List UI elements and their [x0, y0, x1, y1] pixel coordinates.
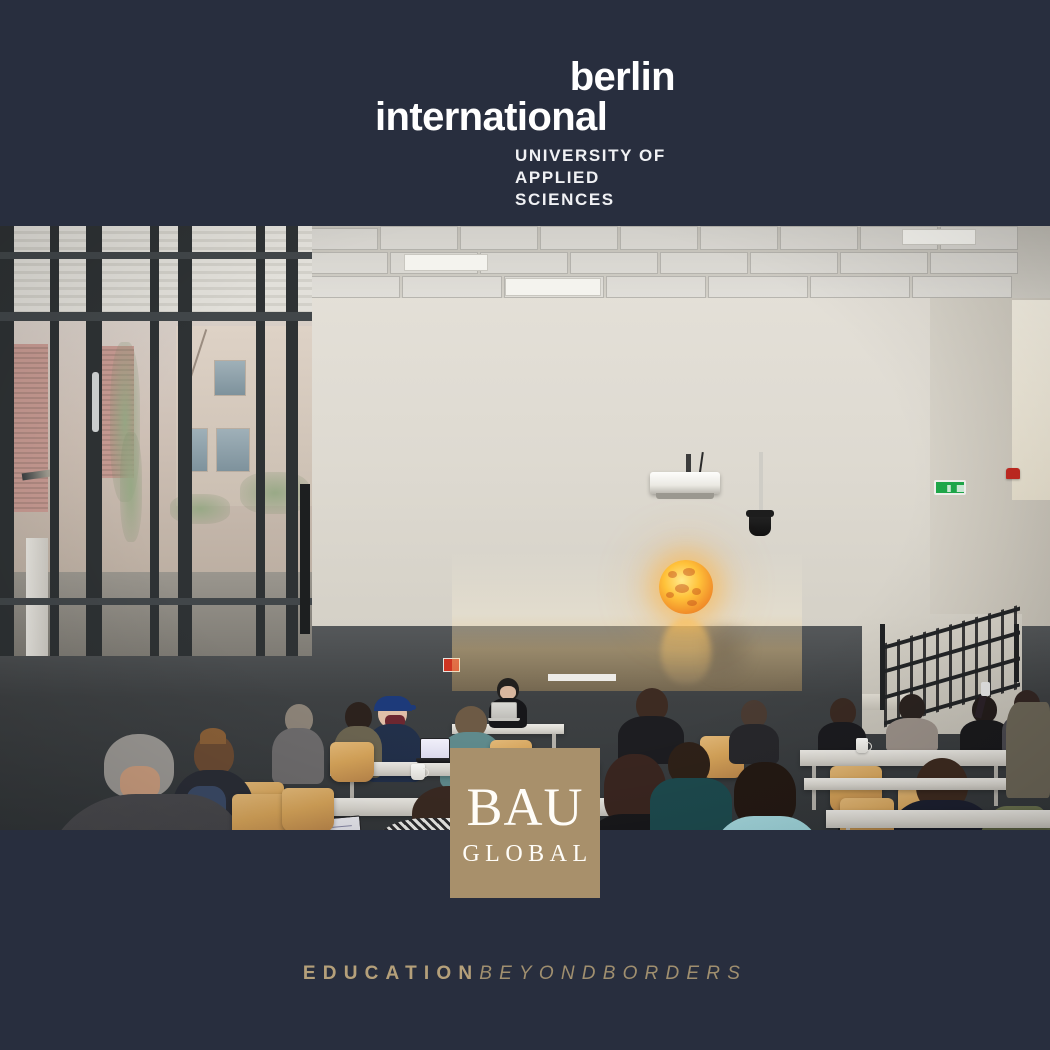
tagline-bold: EDUCATION [303, 963, 479, 984]
speaker-pole [759, 452, 763, 514]
tagline: EDUCATIONBEYONDBORDERS [0, 963, 1050, 985]
glass-facade [0, 226, 312, 656]
chair-mid-2 [282, 788, 334, 830]
projection-sun-reflection [661, 618, 711, 684]
projector-mount [686, 454, 691, 472]
header-bar: berlin international UNIVERSITY OF APPLI… [0, 0, 1050, 226]
logo-inner: berlin international UNIVERSITY OF APPLI… [375, 58, 675, 210]
chair-back-2 [330, 742, 374, 782]
tagline-italic: BEYONDBORDERS [479, 963, 747, 984]
university-logo: berlin international UNIVERSITY OF APPLI… [0, 58, 1050, 210]
social-media-post-card: berlin international UNIVERSITY OF APPLI… [0, 0, 1050, 1050]
laptop-back-left [420, 738, 450, 760]
table-right-front [826, 810, 1050, 828]
fire-alarm-icon [1006, 468, 1020, 479]
ceiling-speaker-icon [749, 512, 771, 536]
mug-back-right [856, 738, 868, 753]
concrete-column [26, 538, 48, 656]
mug-back-left-1 [411, 764, 425, 780]
logo-line-berlin: berlin [375, 58, 675, 97]
ceiling-grid [300, 226, 1050, 298]
bau-global-badge: BAU GLOBAL [450, 748, 600, 898]
emergency-exit-icon [934, 480, 966, 495]
photo-scene [0, 226, 1050, 830]
lecture-hall-photo [0, 226, 1050, 830]
projection-caption [548, 674, 616, 681]
projection-sun-icon [659, 560, 713, 614]
logo-line-international: international [375, 97, 675, 137]
bau-badge-sub: GLOBAL [457, 842, 592, 866]
bau-badge-main: BAU [466, 780, 583, 834]
epson-projector-icon [650, 472, 720, 494]
presenter-laptop [491, 702, 517, 719]
logo-subtitle: UNIVERSITY OF APPLIED SCIENCES [515, 145, 675, 210]
